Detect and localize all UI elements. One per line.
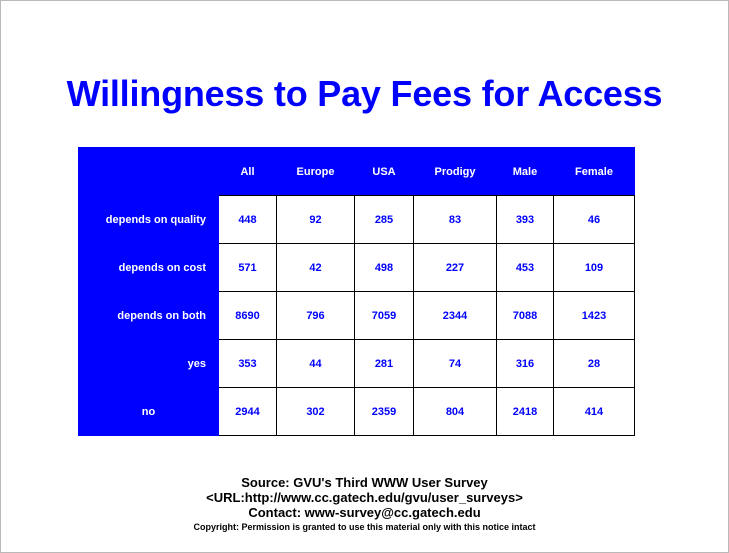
footer-attribution: Source: GVU's Third WWW User Survey <URL…	[1, 475, 728, 534]
cell-quality-prodigy: 83	[414, 196, 497, 244]
cell-both-male: 7088	[497, 292, 554, 340]
cell-both-usa: 7059	[355, 292, 414, 340]
cell-cost-prodigy: 227	[414, 244, 497, 292]
cell-no-all: 2944	[219, 388, 277, 436]
survey-data-table: All Europe USA Prodigy Male Female depen…	[78, 147, 635, 436]
cell-no-prodigy: 804	[414, 388, 497, 436]
cell-cost-male: 453	[497, 244, 554, 292]
cell-quality-all: 448	[219, 196, 277, 244]
cell-no-europe: 302	[277, 388, 355, 436]
page-title: Willingness to Pay Fees for Access	[1, 73, 728, 115]
cell-no-female: 414	[554, 388, 635, 436]
cell-both-all: 8690	[219, 292, 277, 340]
cell-yes-europe: 44	[277, 340, 355, 388]
cell-cost-female: 109	[554, 244, 635, 292]
cell-cost-europe: 42	[277, 244, 355, 292]
footer-url-line: <URL:http://www.cc.gatech.edu/gvu/user_s…	[1, 490, 728, 505]
column-header-female: Female	[554, 148, 635, 196]
cell-yes-all: 353	[219, 340, 277, 388]
footer-contact-line: Contact: www-survey@cc.gatech.edu	[1, 505, 728, 520]
column-header-male: Male	[497, 148, 554, 196]
row-label-depends-on-quality: depends on quality	[79, 196, 219, 244]
table-header: All Europe USA Prodigy Male Female	[79, 148, 635, 196]
cell-quality-male: 393	[497, 196, 554, 244]
table-header-row: All Europe USA Prodigy Male Female	[79, 148, 635, 196]
column-header-prodigy: Prodigy	[414, 148, 497, 196]
cell-yes-male: 316	[497, 340, 554, 388]
cell-no-male: 2418	[497, 388, 554, 436]
table-body: depends on quality 448 92 285 83 393 46 …	[79, 196, 635, 436]
table-row: yes 353 44 281 74 316 28	[79, 340, 635, 388]
table-corner-cell	[79, 148, 219, 196]
cell-cost-usa: 498	[355, 244, 414, 292]
column-header-europe: Europe	[277, 148, 355, 196]
footer-copyright-line: Copyright: Permission is granted to use …	[1, 520, 728, 534]
footer-source-line: Source: GVU's Third WWW User Survey	[1, 475, 728, 490]
column-header-all: All	[219, 148, 277, 196]
table-row: depends on quality 448 92 285 83 393 46	[79, 196, 635, 244]
row-label-depends-on-both: depends on both	[79, 292, 219, 340]
table-row: depends on cost 571 42 498 227 453 109	[79, 244, 635, 292]
cell-both-female: 1423	[554, 292, 635, 340]
cell-no-usa: 2359	[355, 388, 414, 436]
cell-quality-female: 46	[554, 196, 635, 244]
cell-quality-europe: 92	[277, 196, 355, 244]
cell-cost-all: 571	[219, 244, 277, 292]
row-label-depends-on-cost: depends on cost	[79, 244, 219, 292]
slide-canvas: Willingness to Pay Fees for Access All E…	[0, 0, 729, 553]
cell-quality-usa: 285	[355, 196, 414, 244]
cell-both-prodigy: 2344	[414, 292, 497, 340]
cell-yes-female: 28	[554, 340, 635, 388]
table-row: depends on both 8690 796 7059 2344 7088 …	[79, 292, 635, 340]
column-header-usa: USA	[355, 148, 414, 196]
cell-yes-usa: 281	[355, 340, 414, 388]
row-label-yes: yes	[79, 340, 219, 388]
row-label-no: no	[79, 388, 219, 436]
table-row: no 2944 302 2359 804 2418 414	[79, 388, 635, 436]
cell-both-europe: 796	[277, 292, 355, 340]
cell-yes-prodigy: 74	[414, 340, 497, 388]
